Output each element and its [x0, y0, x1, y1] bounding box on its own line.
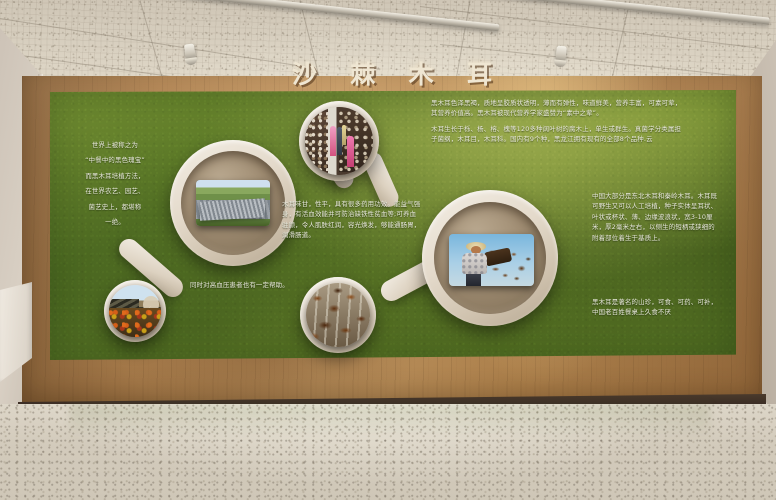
photo-module-farmer[interactable]: [422, 190, 558, 326]
intro-line-3: 而黑木耳培植方法，: [60, 171, 170, 181]
farmer-harvest-photo[interactable]: [449, 234, 534, 286]
text-block-description: 黑木耳色泽黑褐，质地呈胶质状透明，薄而有弹性，味道鲜美，营养丰富，可素可荤，其营…: [431, 98, 686, 145]
inner-well: [181, 151, 285, 255]
text-block-blood-pressure: 同时对高血压患者也有一定帮助。: [190, 280, 310, 290]
photo-module-berry[interactable]: [104, 280, 166, 342]
intro-line-2: “中餐中的黑色瑰宝”: [60, 155, 170, 165]
text-block-medicinal: 木耳味甘，性平，具有很多药用功效。能益气强身，有活血效能并可防治缺铁性贫血等;可…: [282, 199, 422, 241]
intro-line-5: 菌艺史上，都堪称: [60, 202, 170, 212]
aerial-greenhouse-farm-photo[interactable]: [196, 180, 270, 226]
intro-line-6: 一绝。: [60, 217, 170, 227]
description-paragraph-1: 黑木耳色泽黑褐，质地呈胶质状透明，薄而有弹性，味道鲜美，营养丰富，可素可荤，其营…: [431, 98, 686, 119]
terrazzo-floor: [0, 404, 776, 500]
inner-well: [434, 202, 546, 314]
medicinal-paragraph: 木耳味甘，性平，具有很多药用功效。能益气强身，有活血效能并可防治缺铁性贫血等;可…: [282, 199, 422, 241]
text-block-distribution: 中国大部分是东北木耳和秦岭木耳。木耳既可野生又可以人工培植，种子实体呈耳状、叶状…: [592, 191, 718, 243]
text-block-delicacy: 黑木耳是著名的山珍，可食、可药、可补，中国老百姓餐桌上久食不厌: [592, 297, 722, 318]
title-char-1: 沙: [292, 55, 317, 91]
page-title: 沙 棘 木 耳: [292, 56, 492, 90]
text-block-left-intro: 世界上被称之为 “中餐中的黑色瑰宝” 而黑木耳培植方法， 在世界农艺、园艺、 菌…: [60, 140, 170, 227]
title-char-4: 耳: [467, 55, 492, 91]
exhibition-room-scene: 沙 棘 木 耳: [0, 0, 776, 500]
spot-light-icon: [184, 43, 196, 61]
delicacy-paragraph: 黑木耳是著名的山珍，可食、可药、可补，中国老百姓餐桌上久食不厌: [592, 297, 722, 318]
title-char-3: 木: [409, 55, 434, 91]
title-char-2: 棘: [350, 55, 375, 91]
market-drying-yard-photo[interactable]: [305, 107, 373, 175]
photo-module-aerial[interactable]: [170, 140, 296, 266]
intro-line-1: 世界上被称之为: [60, 140, 170, 150]
spot-light-icon: [555, 46, 567, 64]
seabuckthorn-field-photo[interactable]: [109, 285, 161, 337]
description-paragraph-2: 木耳生长于栎、杨、榕、槐等120多种阔叶树的腐木上，单生或群生。真菌学分类属担子…: [431, 124, 686, 145]
blood-pressure-paragraph: 同时对高血压患者也有一定帮助。: [190, 280, 310, 290]
intro-line-4: 在世界农艺、园艺、: [60, 186, 170, 196]
distribution-paragraph: 中国大部分是东北木耳和秦岭木耳。木耳既可野生又可以人工培植，种子实体呈耳状、叶状…: [592, 191, 718, 243]
fungus-cultivation-bags-photo[interactable]: [306, 283, 370, 347]
photo-module-market[interactable]: [299, 101, 379, 181]
photo-module-fungus[interactable]: [300, 277, 376, 353]
